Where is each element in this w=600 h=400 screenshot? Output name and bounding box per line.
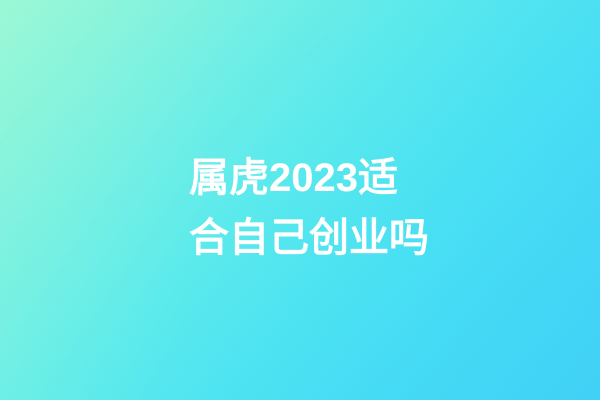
banner-title-line-1: 属虎2023适 [189,148,429,208]
banner-title: 属虎2023适 合自己创业吗 [189,148,429,268]
gradient-banner: 属虎2023适 合自己创业吗 [0,0,600,400]
banner-title-line-2: 合自己创业吗 [189,208,429,268]
